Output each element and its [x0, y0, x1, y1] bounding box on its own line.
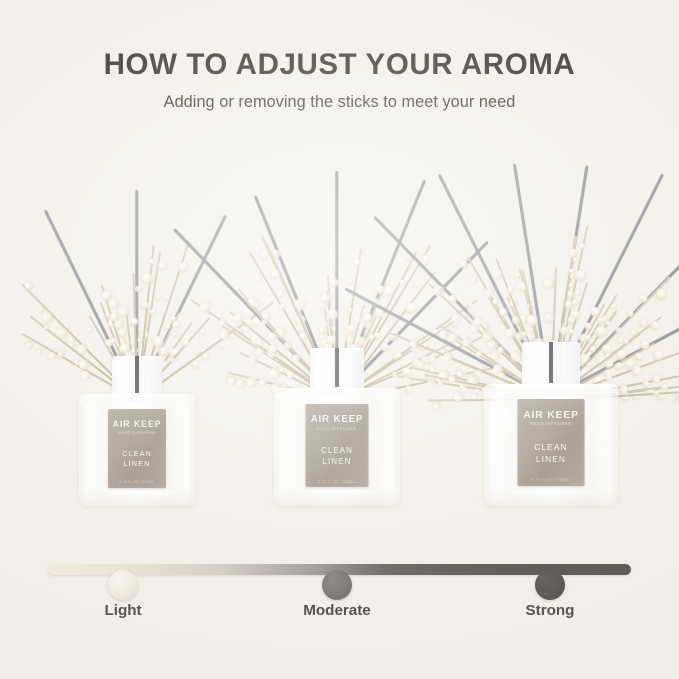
flower-puff	[469, 275, 479, 285]
flower-puff	[283, 341, 292, 350]
flower-puff	[149, 259, 155, 265]
flower-puff	[293, 297, 307, 311]
flower-puff	[117, 328, 127, 338]
slider-knob-moderate[interactable]	[322, 570, 352, 600]
flower-puff	[352, 315, 362, 325]
flower-puff	[572, 299, 579, 306]
flower-puff	[447, 375, 455, 383]
flower-puff	[507, 285, 515, 293]
product-label: AIR KEEPREED DIFFUSERCLEAN LINEN6.76 FL.…	[306, 404, 369, 487]
slider-knob-strong[interactable]	[535, 570, 565, 600]
flower-puff	[149, 309, 156, 316]
flower-puff	[560, 325, 570, 335]
flower-puff	[373, 331, 381, 339]
flower-puff	[453, 391, 463, 401]
flower-puff	[327, 309, 338, 320]
flower-puff	[352, 258, 361, 267]
flower-puff	[429, 366, 436, 373]
label-volume: 6.76 FL.OZ / 200ML	[319, 480, 356, 484]
label-volume: 6.76 FL.OZ / 200ML	[531, 477, 570, 481]
flower-puff	[630, 364, 643, 377]
flower-puff	[619, 386, 629, 396]
glass-bottle[interactable]: AIR KEEPAIR KEEPREED DIFFUSERCLEAN LINEN…	[484, 344, 618, 518]
flower-puff	[651, 375, 660, 384]
flower-puff	[245, 375, 257, 387]
flower-puff	[579, 242, 586, 249]
flower-puff	[138, 328, 144, 334]
flower-puff	[135, 285, 141, 291]
flower-puff	[625, 309, 634, 318]
bottle-base-highlight	[489, 488, 612, 498]
flower-puff	[520, 284, 527, 291]
flower-puff	[279, 302, 287, 310]
label-tagline: REED DIFFUSER	[118, 430, 155, 435]
flower-puff	[652, 349, 665, 362]
flower-puff	[326, 335, 335, 344]
flower-puff	[154, 294, 161, 301]
promo-graphic-canvas: HOW TO ADJUST YOUR AROMA Adding or remov…	[0, 0, 679, 679]
intensity-slider[interactable]: LightModerateStrong	[0, 552, 679, 632]
diffuser-product-strong: AIR KEEPAIR KEEPREED DIFFUSERCLEAN LINEN…	[411, 118, 679, 518]
flower-puff	[569, 268, 575, 274]
flower-puff	[164, 295, 170, 301]
flower-puff	[634, 352, 644, 362]
flower-puff	[254, 272, 264, 282]
flower-puff	[514, 271, 521, 278]
flower-puff	[402, 375, 413, 386]
flower-puff	[456, 369, 464, 377]
label-tagline: REED DIFFUSER	[530, 423, 572, 428]
label-scent-name: CLEAN LINEN	[122, 449, 152, 469]
flower-puff	[118, 306, 130, 318]
flower-puff	[459, 258, 470, 269]
flower-puff	[568, 248, 578, 258]
flower-puff	[544, 312, 554, 322]
flower-puff	[448, 294, 458, 304]
label-brand-name: AIR KEEP	[113, 419, 162, 429]
glass-bottle[interactable]: AIR KEEPAIR KEEPREED DIFFUSERCLEAN LINEN…	[274, 350, 400, 518]
flower-puff	[491, 268, 504, 281]
flower-puff	[276, 277, 282, 283]
flower-puff	[450, 312, 462, 324]
page-title: HOW TO ADJUST YOUR AROMA	[0, 48, 679, 82]
flower-puff	[271, 248, 282, 259]
flower-puff	[180, 338, 191, 349]
flower-puff	[610, 302, 617, 309]
flower-puff	[476, 370, 483, 377]
flower-puff	[244, 326, 251, 333]
flower-puff	[442, 350, 454, 362]
bottle-base-highlight	[84, 488, 191, 498]
flower-puff	[24, 280, 35, 291]
flower-puff	[649, 320, 661, 332]
flower-puff	[497, 306, 508, 317]
bottle-base-highlight	[279, 488, 395, 498]
flower-puff	[675, 393, 679, 404]
flower-puff	[661, 384, 668, 391]
page-subtitle: Adding or removing the sticks to meet yo…	[0, 93, 679, 112]
flower-puff	[36, 348, 43, 355]
flower-puff	[232, 311, 245, 324]
flower-puff	[258, 377, 267, 386]
flower-puff	[330, 279, 338, 287]
product-label: AIR KEEPREED DIFFUSERCLEAN LINEN6.76 FL.…	[108, 409, 166, 488]
flower-puff	[639, 338, 651, 350]
label-scent-name: CLEAN LINEN	[321, 446, 353, 467]
flower-puff	[526, 314, 539, 327]
flower-puff	[363, 321, 372, 330]
flower-puff	[141, 301, 149, 309]
flower-puff	[638, 317, 649, 328]
flower-puff	[572, 257, 578, 263]
flower-puff	[87, 326, 94, 333]
flower-puff	[614, 326, 623, 335]
flower-puff	[43, 324, 50, 331]
flower-puff	[217, 328, 230, 341]
flower-puff	[417, 360, 425, 368]
label-tagline: REED DIFFUSER	[317, 426, 357, 431]
flower-puff	[235, 377, 246, 388]
label-scent-name: CLEAN LINEN	[534, 442, 567, 465]
slider-label-moderate: Moderate	[303, 602, 371, 619]
flower-puff	[198, 299, 213, 314]
label-volume: 6.76 FL.OZ / 200ML	[120, 480, 155, 484]
flower-puff	[347, 308, 353, 314]
flower-puff	[130, 318, 137, 325]
label-brand-name: AIR KEEP	[311, 414, 364, 425]
flower-puff	[584, 322, 593, 331]
flower-puff	[569, 329, 575, 335]
flower-puff	[25, 340, 34, 349]
flower-puff	[322, 321, 329, 328]
glass-bottle[interactable]: AIR KEEPAIR KEEPREED DIFFUSERCLEAN LINEN…	[79, 358, 195, 518]
slider-label-strong: Strong	[526, 602, 575, 619]
flower-puff	[347, 278, 354, 285]
flower-puff	[525, 327, 531, 333]
flower-puff	[172, 331, 179, 338]
slider-knob-light[interactable]	[108, 570, 138, 600]
flower-puff	[575, 289, 581, 295]
flower-puff	[632, 391, 641, 400]
flower-puff	[461, 385, 468, 392]
flower-puff	[426, 378, 435, 387]
flower-puff	[543, 278, 554, 289]
product-comparison-row: AIR KEEPAIR KEEPREED DIFFUSERCLEAN LINEN…	[0, 118, 679, 518]
flower-puff	[431, 284, 446, 299]
flower-puff	[574, 269, 587, 282]
flower-puff	[176, 262, 189, 275]
product-label: AIR KEEPREED DIFFUSERCLEAN LINEN6.76 FL.…	[518, 399, 585, 486]
flower-puff	[47, 351, 57, 361]
flower-puff	[604, 319, 612, 327]
flower-puff	[140, 273, 152, 285]
flower-puff	[56, 349, 65, 358]
flower-puff	[437, 379, 443, 385]
flower-puff	[638, 293, 649, 304]
flower-puff	[654, 287, 669, 302]
label-brand-name: AIR KEEP	[523, 410, 578, 421]
flower-puff	[320, 293, 330, 303]
flower-puff	[158, 261, 168, 271]
flower-puff	[433, 402, 441, 410]
slider-label-light: Light	[104, 602, 141, 619]
